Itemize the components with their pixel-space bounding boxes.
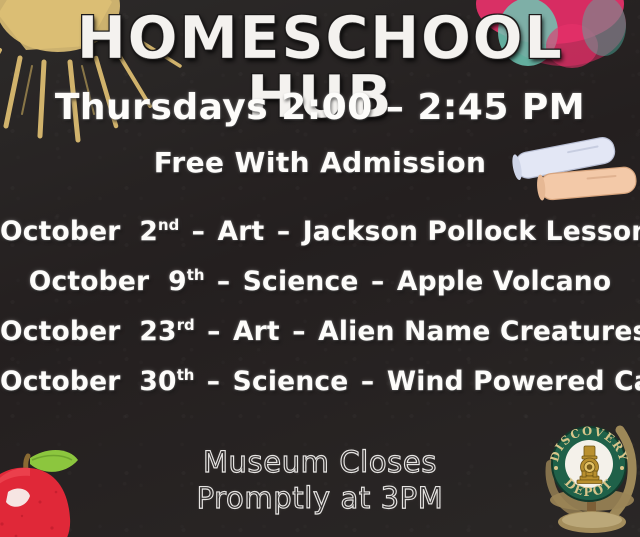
- event-list: October 2nd – Art – Jackson Pollock Less…: [0, 212, 640, 412]
- event-subject: Science: [233, 366, 349, 397]
- event-day-suffix: nd: [158, 217, 179, 234]
- event-subject: Art: [218, 216, 265, 247]
- admission-subtitle: Free With Admission: [0, 149, 640, 177]
- event-day-suffix: rd: [177, 317, 195, 334]
- event-month: October: [0, 366, 121, 397]
- event-row: October 9th – Science – Apple Volcano: [0, 262, 640, 312]
- event-separator: –: [274, 216, 293, 247]
- event-separator: –: [204, 316, 223, 347]
- event-separator: –: [358, 366, 377, 397]
- homeschool-hub-poster: HOMESCHOOL HUB Thursdays 2:00 – 2:45 PM …: [0, 0, 640, 537]
- event-activity: Alien Name Creatures: [318, 316, 640, 347]
- closing-notice-line-2: Promptly at 3PM: [0, 480, 640, 516]
- event-activity: Jackson Pollock Lesson: [303, 216, 640, 247]
- schedule-time-line: Thursdays 2:00 – 2:45 PM: [0, 90, 640, 126]
- event-separator: –: [289, 316, 308, 347]
- event-month: October: [29, 266, 150, 297]
- event-day-suffix: th: [177, 367, 195, 384]
- event-separator: –: [204, 366, 223, 397]
- event-subject: Art: [233, 316, 280, 347]
- event-separator: –: [214, 266, 233, 297]
- event-separator: –: [368, 266, 387, 297]
- closing-notice-line-1: Museum Closes: [0, 444, 640, 480]
- event-activity: Wind Powered Car: [387, 366, 640, 397]
- event-day-suffix: th: [187, 267, 205, 284]
- event-subject: Science: [243, 266, 359, 297]
- event-day: 30: [139, 366, 176, 397]
- event-day: 2: [139, 216, 158, 247]
- event-month: October: [0, 316, 121, 347]
- event-day: 9: [168, 266, 187, 297]
- event-day: 23: [139, 316, 176, 347]
- event-row: October 23rd – Art – Alien Name Creature…: [0, 312, 640, 362]
- event-separator: –: [189, 216, 208, 247]
- event-row: October 30th – Science – Wind Powered Ca…: [0, 362, 640, 412]
- closing-notice: Museum Closes Promptly at 3PM: [0, 444, 640, 516]
- event-row: October 2nd – Art – Jackson Pollock Less…: [0, 212, 640, 262]
- event-activity: Apple Volcano: [397, 266, 611, 297]
- event-month: October: [0, 216, 121, 247]
